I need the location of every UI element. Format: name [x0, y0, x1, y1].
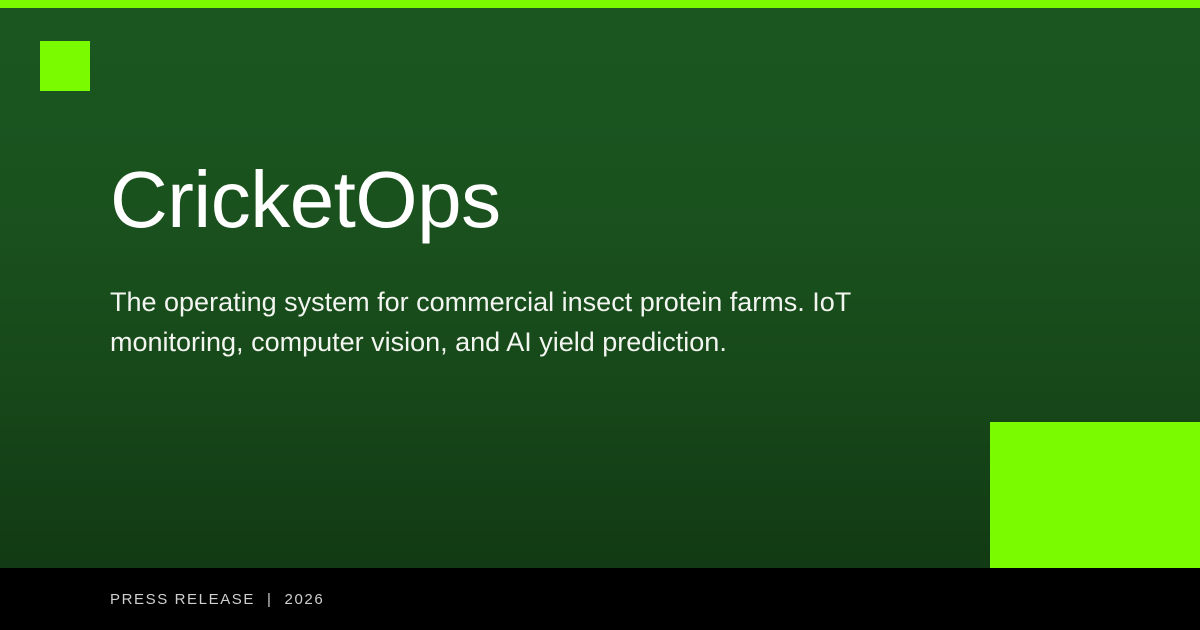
page-title: CricketOps [110, 160, 930, 240]
footer-separator: | [255, 591, 285, 608]
footer-content: PRESS RELEASE | 2026 [110, 568, 324, 630]
footer-year: 2026 [285, 591, 325, 608]
bottom-right-accent-block [990, 422, 1200, 568]
slide-content: CricketOps The operating system for comm… [110, 160, 930, 362]
top-accent-bar [0, 0, 1200, 8]
corner-square-mark [40, 41, 90, 91]
footer-bar: PRESS RELEASE | 2026 [0, 568, 1200, 630]
slide-subtitle: The operating system for commercial inse… [110, 240, 910, 362]
presentation-slide: CricketOps The operating system for comm… [0, 0, 1200, 630]
footer-label: PRESS RELEASE [110, 591, 255, 608]
